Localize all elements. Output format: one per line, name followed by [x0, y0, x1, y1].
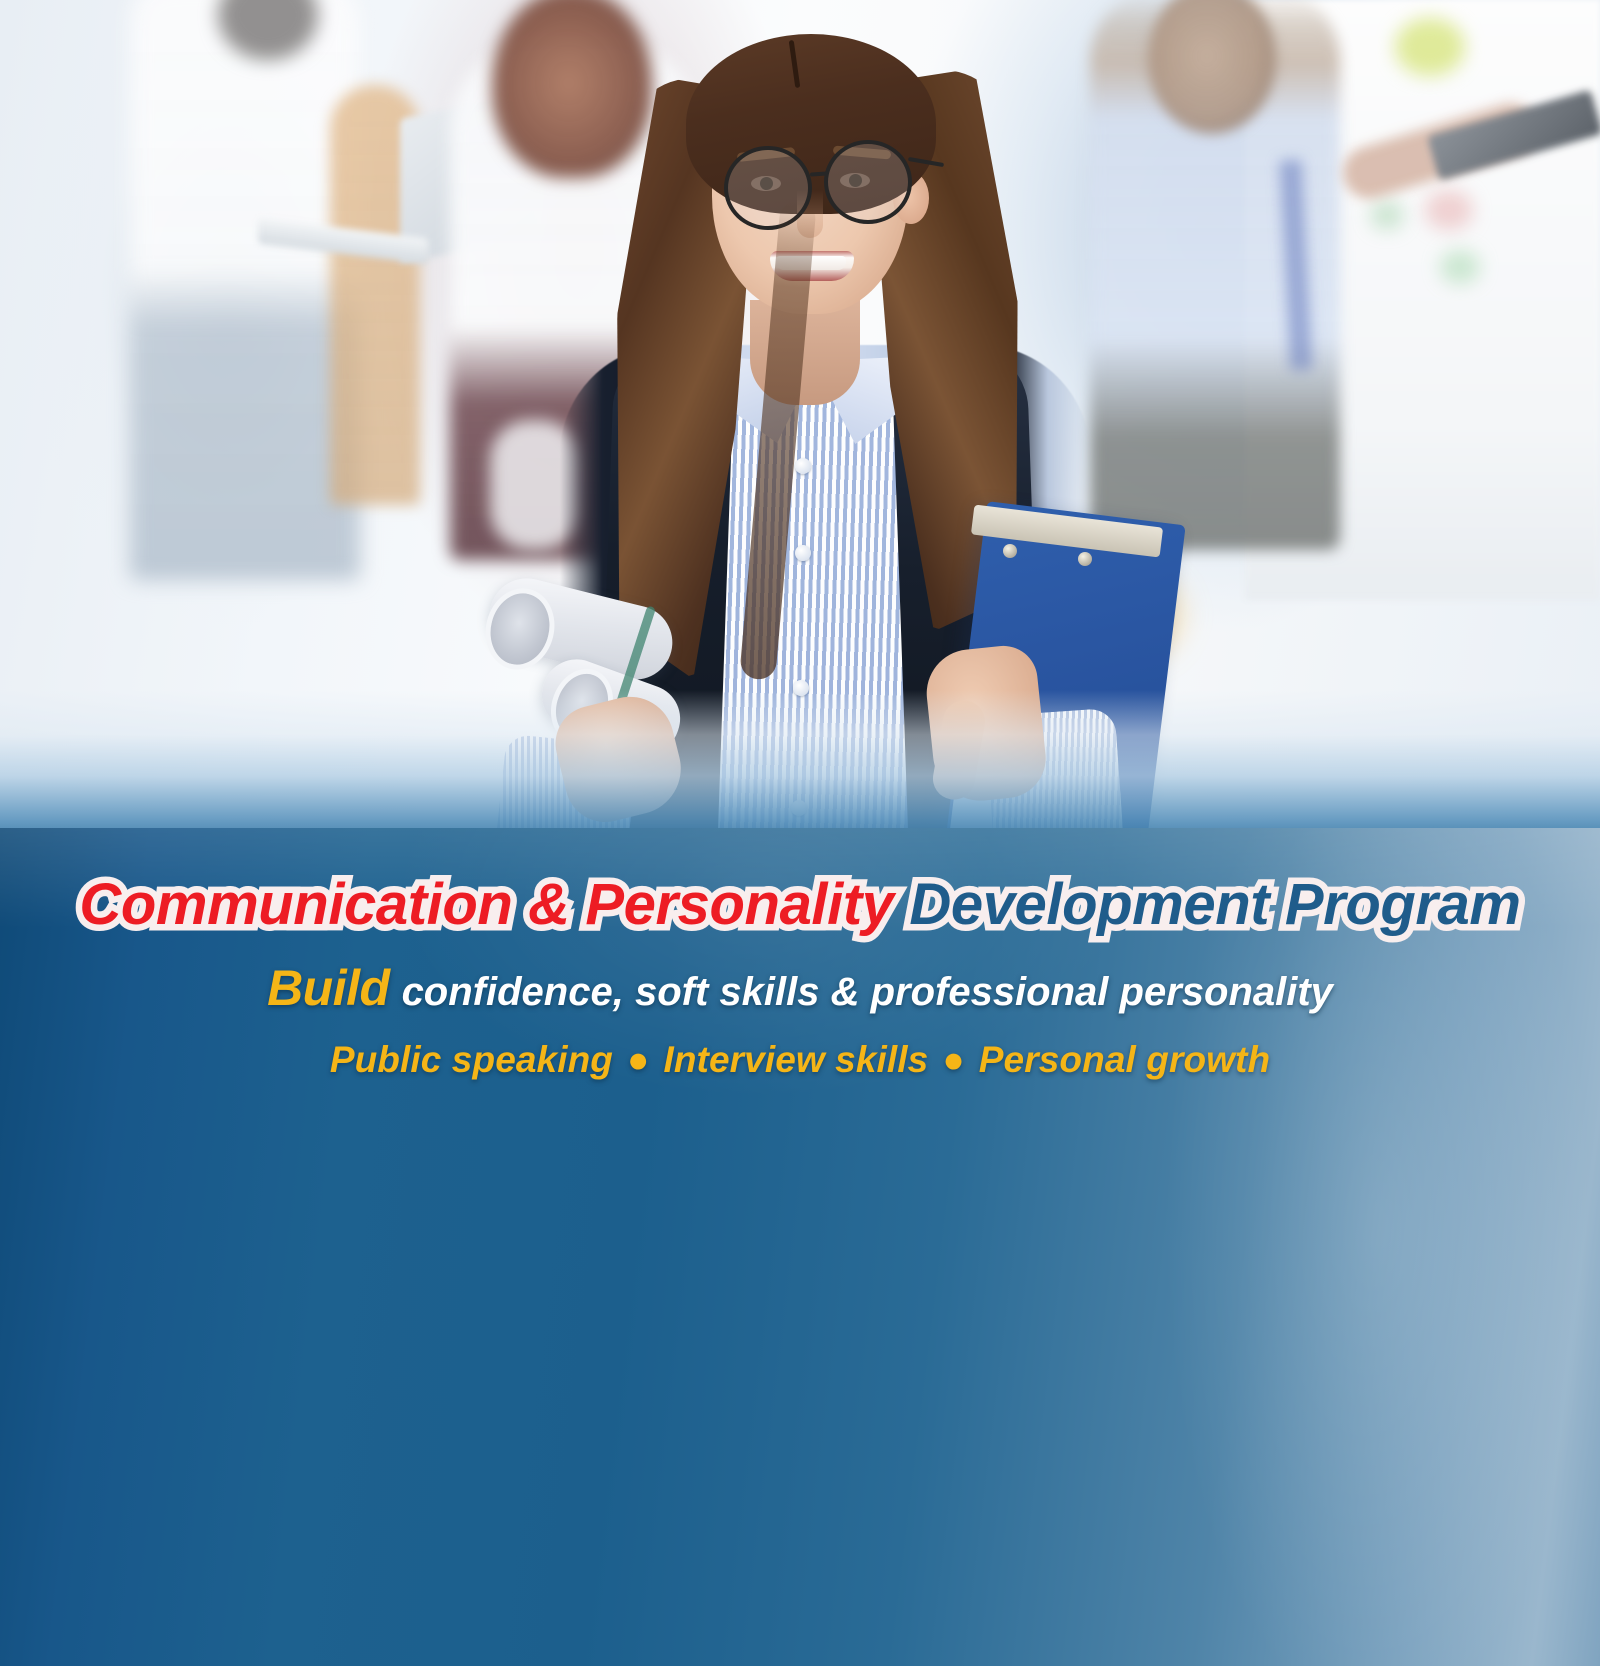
- tagline-item-2: Interview skills: [663, 1039, 928, 1080]
- panel-text-block: Communication & Personality Development …: [0, 874, 1600, 1081]
- tagline: Public speaking●Interview skills●Persona…: [0, 1039, 1600, 1081]
- shirt-button: [795, 458, 811, 474]
- subline: Buildconfidence, soft skills & professio…: [0, 959, 1600, 1017]
- tagline-item-3: Personal growth: [979, 1039, 1270, 1080]
- text-panel: Communication & Personality Development …: [0, 828, 1600, 1666]
- bullet-icon: ●: [928, 1039, 978, 1080]
- subline-rest: confidence, soft skills & professional p…: [402, 970, 1333, 1014]
- bullet-icon: ●: [613, 1039, 663, 1080]
- eyeglasses-lens-right: [824, 140, 912, 224]
- hero-photo: [0, 0, 1600, 860]
- headline-rest: Development Program: [909, 872, 1520, 937]
- clipboard-rivet: [1078, 552, 1092, 566]
- subline-lead: Build: [267, 960, 389, 1016]
- shirt-button: [793, 680, 809, 696]
- shirt-button: [791, 800, 807, 816]
- promotional-banner: Communication & Personality Development …: [0, 0, 1600, 1666]
- foreground-subject: [0, 0, 1600, 860]
- clipboard-rivet: [1003, 544, 1017, 558]
- shirt-button: [795, 545, 811, 561]
- tagline-item-1: Public speaking: [330, 1039, 613, 1080]
- headline-highlight: Communication & Personality: [79, 872, 893, 937]
- headline: Communication & Personality Development …: [0, 874, 1600, 935]
